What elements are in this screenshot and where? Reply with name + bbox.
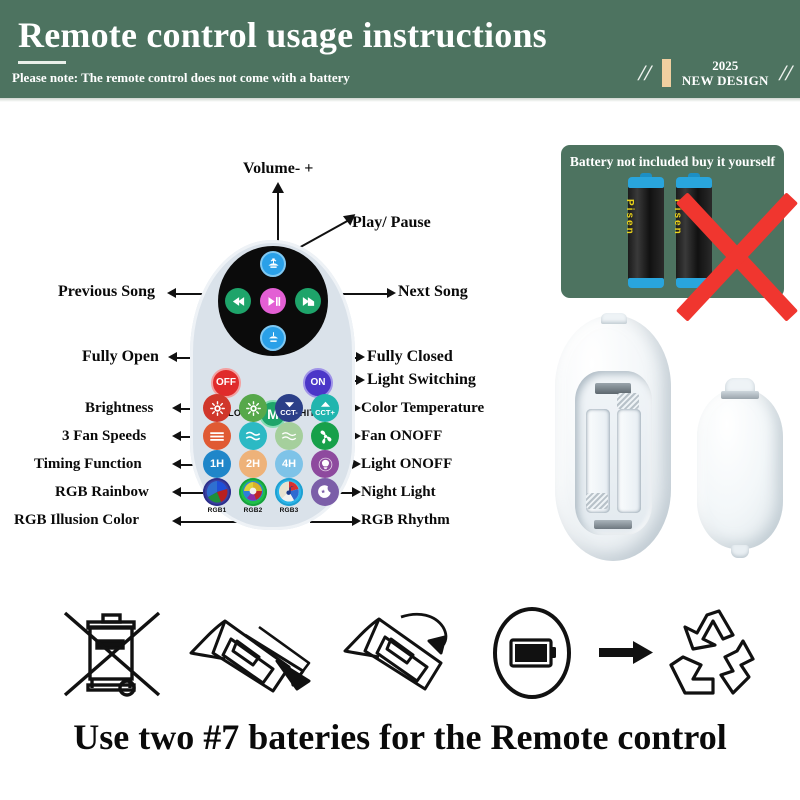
battery-base [628,278,664,288]
volume-up-icon [266,257,281,272]
callout-brightness: Brightness [85,400,153,417]
slash-right-icon: // [777,62,794,84]
design-badge: // 2025 NEW DESIGN // [639,56,792,90]
arrow-left-icon [172,431,181,441]
callout-rgb-rainbow: RGB Rainbow [55,484,149,501]
media-control-disc [218,246,328,356]
volume-down-icon [266,331,281,346]
timer-2h-button[interactable]: 2H [239,450,267,478]
arrow-up-icon [272,182,284,193]
cover-clip [721,391,759,399]
footer-instruction: Use two #7 bateries for the Remote contr… [0,716,800,758]
arrow-left-icon [172,403,181,413]
fan-onoff-button[interactable] [311,422,339,450]
light-onoff-icon [317,456,334,473]
callout-fully-open: Fully Open [82,348,159,366]
badge-design-label: NEW DESIGN [682,73,769,88]
brightness-cool-icon [245,400,262,417]
remote-diagram: OFF ON COLOUR M WHITE [190,240,355,530]
timer-1h-button[interactable]: 1H [203,450,231,478]
rgb-illusion-button[interactable] [239,478,267,506]
open-battery-cover-icon [185,605,325,710]
arrow-right-icon [387,288,396,298]
triangle-down-icon [284,401,295,408]
next-song-button[interactable] [295,288,321,314]
arrow-left-icon [172,459,181,469]
battery-warning-title: Battery not included buy it yourself [561,154,784,170]
battery-spring [617,393,639,409]
cross-out-icon [664,197,800,315]
callout-night-light: Night Light [361,484,436,501]
fan-speed-low-icon [280,430,298,442]
rgb-rainbow-icon [203,478,231,506]
battery-warning-box: Battery not included buy it yourself Pis… [561,145,784,298]
battery-spring [586,493,608,509]
timer-4h-button[interactable]: 4H [275,450,303,478]
recycle-icon [663,605,763,710]
rgb2-label: RGB2 [235,507,271,514]
badge-text: 2025 NEW DESIGN [682,58,769,89]
battery-cap [676,177,712,188]
previous-track-icon [231,295,246,308]
slash-left-icon: // [636,62,653,84]
callout-light-switching: Light Switching [367,371,476,389]
callout-fan-onoff: Fan ONOFF [361,428,442,445]
arrow-left-icon [172,487,181,497]
remote-battery-cover [697,389,783,549]
header-shadow [0,98,800,102]
care-instruction-icons [45,605,760,705]
battery-cell: Pisen [628,183,664,284]
header-note: Please note: The remote control does not… [12,70,350,86]
rgb1-label: RGB1 [199,507,235,514]
arrow-right-icon [597,637,655,672]
rgb-rhythm-icon [275,478,303,506]
leader-line [277,192,279,244]
no-bin-icon [55,605,170,710]
callout-volume: Volume- + [243,160,313,178]
battery-cap [628,177,664,188]
play-pause-button[interactable] [260,288,286,314]
arrow-left-icon [172,516,181,526]
callout-fan-speeds: 3 Fan Speeds [62,428,146,445]
cct-down-button[interactable]: CCT- [275,394,303,422]
callout-light-onoff: Light ONOFF [361,456,452,473]
badge-accent-bar [662,59,671,87]
arrow-right-icon [356,375,365,385]
arrow-left-icon [167,288,176,298]
brightness-cool-button[interactable] [239,394,267,422]
night-light-moon-icon [317,484,333,500]
fan-speed-low-button[interactable] [275,422,303,450]
callout-rgb-illusion: RGB Illusion Color [14,512,139,529]
page-title: Remote control usage instructions [18,14,547,56]
callout-next-song: Next Song [398,283,468,301]
volume-down-button[interactable] [260,325,286,351]
remote-back-shell [555,315,671,561]
battery-contact-bottom [594,520,632,529]
remote-photo-area [545,305,795,567]
fan-speed-mid-button[interactable] [239,422,267,450]
battery-compartment [575,371,652,535]
previous-song-button[interactable] [225,288,251,314]
fan-onoff-icon [317,428,334,445]
cover-foot [731,545,749,558]
rgb3-label: RGB3 [271,507,307,514]
volume-up-button[interactable] [260,251,286,277]
fan-speed-mid-icon [244,430,262,442]
brightness-warm-button[interactable] [203,394,231,422]
battery-status-icon [485,605,580,710]
insert-batteries-icon [341,605,476,710]
battery-pair-illustration: Pisen Pisen [624,177,722,287]
callout-fully-closed: Fully Closed [367,348,453,366]
remote-shell-lip [601,313,627,324]
callout-timing-function: Timing Function [34,456,142,473]
callout-previous-song: Previous Song [58,283,155,301]
callout-rgb-rhythm: RGB Rhythm [361,512,450,529]
rgb-rainbow-button[interactable] [203,478,231,506]
badge-year: 2025 [682,58,769,73]
fan-speed-high-button[interactable] [203,422,231,450]
night-light-button[interactable] [311,478,339,506]
callout-play-pause: Play/ Pause [352,214,431,232]
callout-color-temperature: Color Temperature [361,400,484,417]
arrow-right-icon [356,352,365,362]
fan-speed-high-icon [208,430,226,442]
light-onoff-button[interactable] [311,450,339,478]
next-track-icon [301,295,316,308]
page-header: Remote control usage instructions Please… [0,0,800,98]
battery-brand-label: Pisen [624,199,635,269]
arrow-left-icon [168,352,177,362]
cct-up-button[interactable]: CCT+ [311,394,339,422]
battery-slot [617,409,641,513]
brightness-warm-icon [209,400,226,417]
cct-down-label: CCT- [280,408,298,417]
title-underline [18,61,66,64]
rgb-rhythm-button[interactable] [275,478,303,506]
triangle-up-icon [320,401,331,408]
rgb-illusion-icon [239,478,267,506]
play-pause-icon [266,295,281,308]
cct-up-label: CCT+ [315,408,335,417]
